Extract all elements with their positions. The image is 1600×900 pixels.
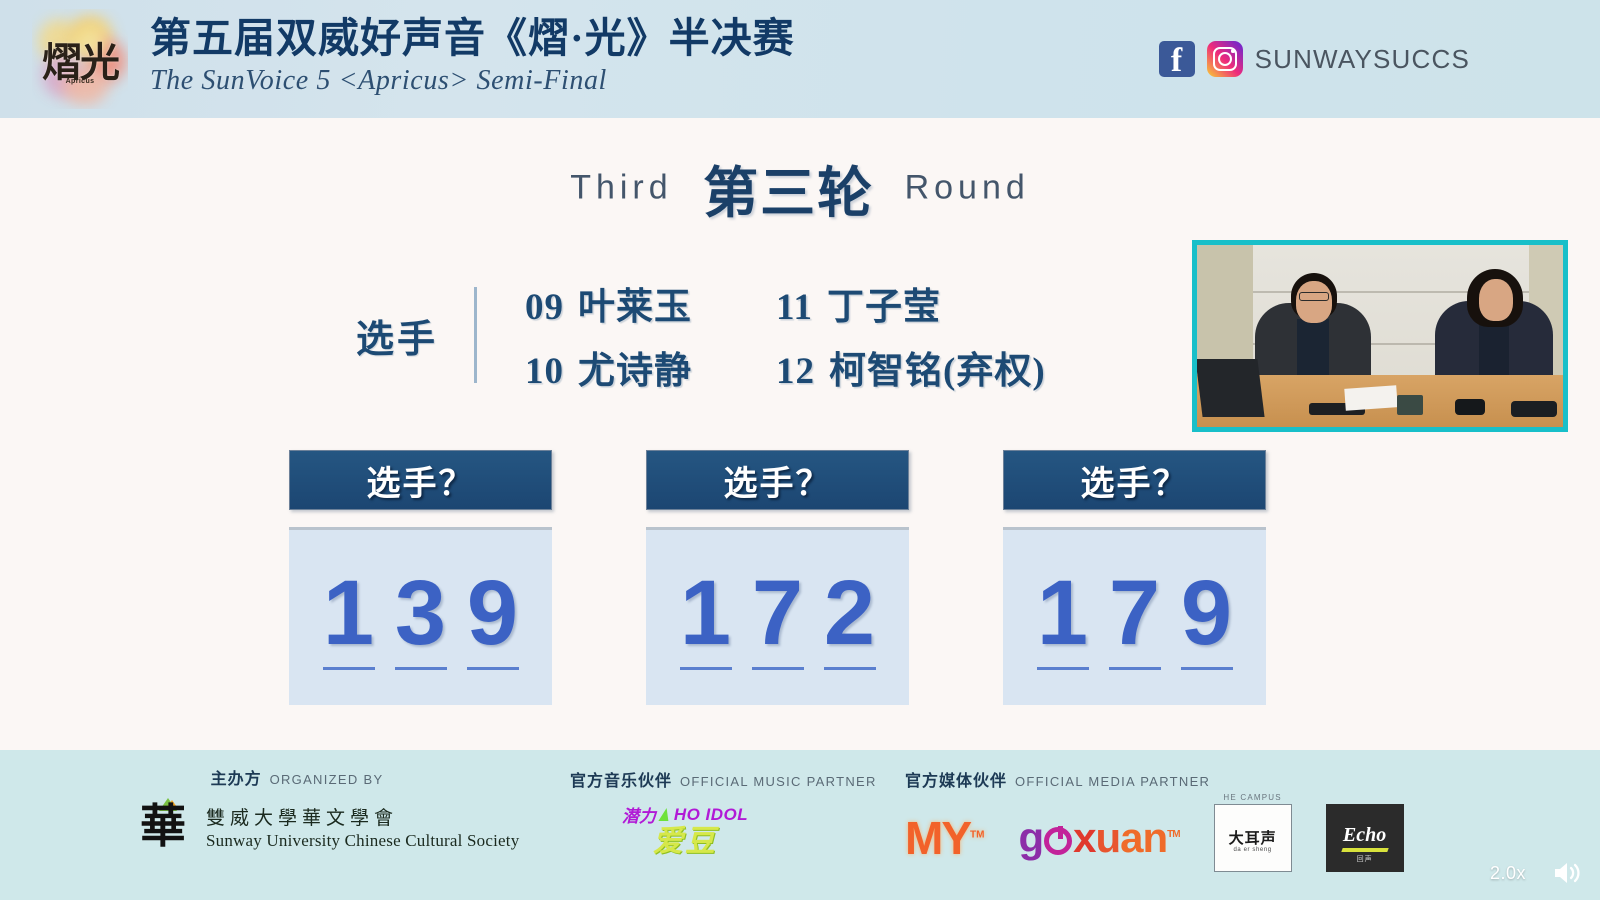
- score-card-title: 选手？: [1081, 456, 1189, 505]
- media-partner-logos: MYTM gxuanTM HE CAMPUS 大耳声 da er sheng E…: [905, 804, 1505, 872]
- contestant-name: 柯智铭(弃权): [829, 351, 1046, 392]
- score-digit: 2: [817, 567, 883, 659]
- organizer-name-block: 雙威大學華文學會 Sunway University Chinese Cultu…: [206, 807, 519, 851]
- roster-item: 10尤诗静: [525, 340, 692, 394]
- echo-logo-sub: 回声: [1326, 854, 1404, 864]
- music-partner-caption: 官方音乐伙伴OFFICIAL MUSIC PARTNER: [570, 774, 800, 790]
- goxuan-letter-g: g: [1018, 814, 1043, 861]
- media-partner-caption-en: OFFICIAL MEDIA PARTNER: [1015, 774, 1210, 789]
- my-logo-tm: TM: [970, 830, 984, 841]
- round-label-cn: 第三轮: [703, 163, 874, 224]
- hoidol-logo: 潜力 HO IDOL: [570, 802, 800, 827]
- contestant-number: 09: [525, 287, 564, 328]
- echo-logo: Echo 回声: [1326, 804, 1404, 872]
- goxuan-letter-x: x: [1073, 814, 1095, 861]
- score-digit: 9: [1174, 567, 1240, 659]
- echo-logo-stripe: [1341, 848, 1388, 852]
- organizer-logo-icon: 華: [132, 798, 194, 860]
- organizer-group: 主办方ORGANIZED BY 華 雙威大學華文學會 Sunway Univer…: [132, 772, 462, 860]
- round-title: Third 第三轮 Round: [0, 148, 1600, 228]
- contestant-number: 10: [525, 351, 564, 392]
- volume-icon[interactable]: [1552, 860, 1582, 886]
- goxuan-letter-a: a: [1120, 814, 1142, 861]
- contestant-roster: 选手 09叶莱玉 10尤诗静 11丁子莹 12柯智铭(弃权): [356, 276, 1046, 394]
- instagram-lens: [1218, 52, 1232, 66]
- event-title-cn: 第五届双威好声音《熠·光》半决赛: [150, 16, 1159, 62]
- goxuan-letter-n: n: [1142, 814, 1167, 861]
- music-partner-caption-cn: 官方音乐伙伴: [570, 773, 672, 790]
- organizer-name-en: Sunway University Chinese Cultural Socie…: [206, 831, 519, 851]
- paper-sheet: [1344, 385, 1397, 411]
- header-title-block: 第五届双威好声音《熠·光》半决赛 The SunVoice 5 <Apricus…: [150, 16, 1159, 102]
- score-digit: 1: [316, 567, 382, 659]
- he-campus-label: HE CAMPUS: [1215, 793, 1291, 802]
- organizer-caption: 主办方ORGANIZED BY: [132, 772, 462, 788]
- organizer-logo-block: 華 雙威大學華文學會 Sunway University Chinese Cul…: [132, 798, 462, 860]
- hoidol-logo-en: HO IDOL: [674, 805, 748, 825]
- contestant-name: 叶莱玉: [578, 287, 692, 328]
- media-partner-caption: 官方媒体伙伴OFFICIAL MEDIA PARTNER: [905, 774, 1165, 790]
- hoidol-logo-sub: 爱豆: [570, 828, 800, 855]
- music-partner-group: 官方音乐伙伴OFFICIAL MUSIC PARTNER 潜力 HO IDOL …: [570, 774, 800, 855]
- host-shirt: [1479, 319, 1509, 375]
- roster-column-left: 09叶莱玉 10尤诗静: [525, 276, 692, 394]
- score-digit: 9: [460, 567, 526, 659]
- roster-item: 09叶莱玉: [525, 276, 692, 330]
- broadcast-screen: 熠光 Apricus 第五届双威好声音《熠·光》半决赛 The SunVoice…: [0, 0, 1600, 900]
- microphone-icon: [1511, 401, 1557, 417]
- event-title-en: The SunVoice 5 <Apricus> Semi-Final: [150, 63, 1159, 98]
- host-face: [1479, 279, 1513, 321]
- round-suffix-en: Round: [905, 169, 1030, 207]
- webcam-host-male: [1255, 265, 1371, 375]
- score-card: 选手？ 1 7 9: [1003, 450, 1266, 705]
- he-campus-logo: HE CAMPUS 大耳声 da er sheng: [1214, 804, 1292, 872]
- slide-body: Third 第三轮 Round 选手 09叶莱玉 10尤诗静 11丁子莹: [0, 118, 1600, 750]
- contestant-number: 11: [776, 287, 813, 328]
- webcam-host-female: [1435, 263, 1553, 375]
- host-shirt: [1297, 319, 1329, 375]
- score-card-title: 选手？: [367, 456, 475, 505]
- score-digit: 1: [673, 567, 739, 659]
- instagram-icon[interactable]: [1207, 41, 1243, 77]
- roster-divider: [474, 287, 477, 383]
- facebook-icon[interactable]: [1159, 41, 1195, 77]
- score-card: 选手？ 1 3 9: [289, 450, 552, 705]
- logo-subtitle: Apricus: [32, 78, 128, 85]
- score-card-title: 选手？: [724, 456, 832, 505]
- sponsor-footer: 主办方ORGANIZED BY 華 雙威大學華文學會 Sunway Univer…: [0, 750, 1600, 900]
- media-partner-group: 官方媒体伙伴OFFICIAL MEDIA PARTNER: [905, 774, 1165, 790]
- device-box: [1397, 395, 1423, 415]
- music-partner-caption-en: OFFICIAL MUSIC PARTNER: [680, 774, 877, 789]
- my-logo: MYTM: [905, 815, 984, 861]
- host-webcam-inset[interactable]: [1192, 240, 1568, 432]
- power-icon: [1044, 827, 1072, 855]
- roster-item: 12柯智铭(弃权): [776, 340, 1046, 394]
- event-logo: 熠光 Apricus: [32, 9, 128, 109]
- score-digit: 3: [388, 567, 454, 659]
- organizer-caption-en: ORGANIZED BY: [270, 772, 384, 787]
- score-digit: 1: [1030, 567, 1096, 659]
- player-controls: 2.0x: [1490, 860, 1582, 886]
- round-prefix-en: Third: [570, 169, 672, 207]
- score-card-header: 选手？: [289, 450, 552, 510]
- media-partner-caption-cn: 官方媒体伙伴: [905, 773, 1007, 790]
- he-campus-pinyin: da er sheng: [1215, 847, 1291, 853]
- event-header: 熠光 Apricus 第五届双威好声音《熠·光》半决赛 The SunVoice…: [0, 0, 1600, 118]
- roster-columns: 09叶莱玉 10尤诗静 11丁子莹 12柯智铭(弃权): [525, 276, 1046, 394]
- instagram-dot: [1231, 49, 1235, 53]
- organizer-logo-glyph: 華: [132, 804, 194, 850]
- laptop-icon: [1195, 359, 1264, 417]
- score-digit: 7: [745, 567, 811, 659]
- goxuan-letter-u: u: [1095, 814, 1120, 861]
- echo-logo-text: Echo: [1326, 824, 1404, 847]
- microphone-icon: [1455, 399, 1485, 415]
- he-campus-cn: 大耳声: [1215, 827, 1291, 848]
- score-card-body: 1 7 9: [1003, 527, 1266, 705]
- roster-item: 11丁子莹: [776, 276, 1046, 330]
- score-card-body: 1 7 2: [646, 527, 909, 705]
- contestant-name: 丁子莹: [827, 287, 941, 328]
- score-card-body: 1 3 9: [289, 527, 552, 705]
- score-card: 选手？ 1 7 2: [646, 450, 909, 705]
- contestant-number: 12: [776, 351, 815, 392]
- roster-label: 选手: [356, 308, 474, 363]
- score-digit: 7: [1102, 567, 1168, 659]
- host-glasses: [1299, 292, 1329, 301]
- score-card-header: 选手？: [646, 450, 909, 510]
- logo-mark-text: 熠光: [32, 9, 128, 109]
- hoidol-logo-cn: 潜力: [622, 802, 656, 827]
- social-handles: SUNWAYSUCCS: [1159, 41, 1470, 77]
- social-handle-text: SUNWAYSUCCS: [1255, 44, 1470, 75]
- my-logo-text: MY: [905, 812, 970, 864]
- goxuan-logo: gxuanTM: [1018, 817, 1179, 859]
- score-card-header: 选手？: [1003, 450, 1266, 510]
- organizer-caption-cn: 主办方: [211, 771, 262, 788]
- host-face: [1296, 281, 1332, 323]
- roster-column-right: 11丁子莹 12柯智铭(弃权): [776, 276, 1046, 394]
- lightning-bolt-icon: [658, 808, 671, 821]
- organizer-name-cn: 雙威大學華文學會: [206, 807, 519, 831]
- goxuan-logo-tm: TM: [1167, 829, 1179, 840]
- score-cards: 选手？ 1 3 9 选手？ 1 7 2: [289, 450, 1266, 705]
- playback-speed-label[interactable]: 2.0x: [1490, 863, 1526, 884]
- contestant-name: 尤诗静: [578, 351, 692, 392]
